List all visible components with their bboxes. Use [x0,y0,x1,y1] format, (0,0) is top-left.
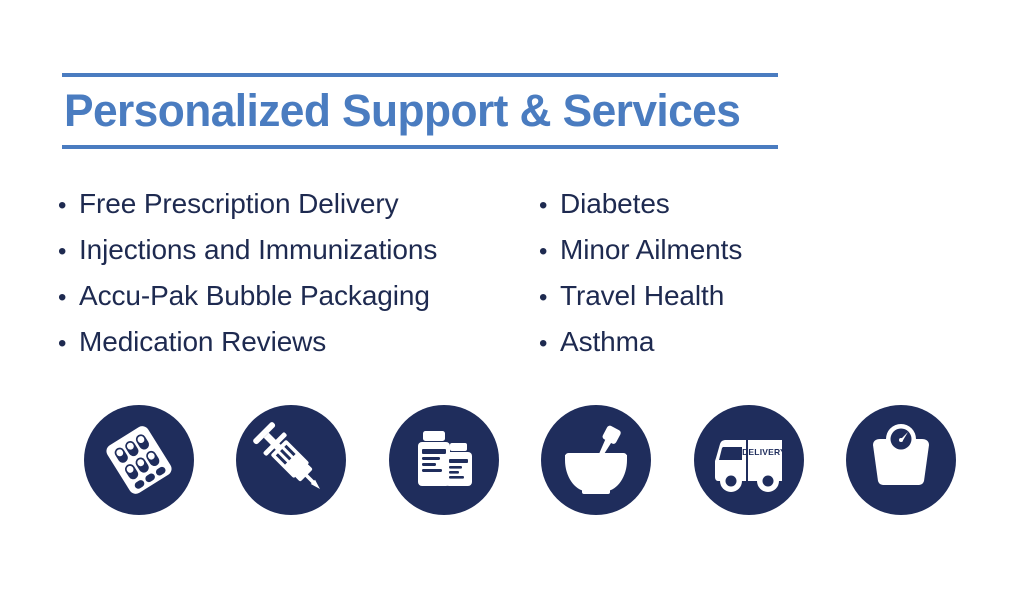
blister-pack-icon [84,405,194,515]
list-item-label: Asthma [560,319,654,365]
list-item: • Accu-Pak Bubble Packaging [58,273,437,319]
list-item: • Medication Reviews [58,319,437,365]
pill-bottles-icon [389,405,499,515]
list-item: • Diabetes [539,181,742,227]
bullet-icon: • [539,183,560,229]
bullet-icon: • [539,321,560,367]
list-item-label: Injections and Immunizations [79,227,437,273]
list-item-label: Minor Ailments [560,227,742,273]
list-item-label: Accu-Pak Bubble Packaging [79,273,430,319]
mortar-pestle-icon [541,405,651,515]
delivery-truck-icon: DELIVERY [694,405,804,515]
list-item-label: Travel Health [560,273,724,319]
list-item-label: Free Prescription Delivery [79,181,399,227]
icon-badge-pill-bottles [389,405,499,515]
list-item: • Minor Ailments [539,227,742,273]
page-title: Personalized Support & Services [62,77,767,145]
icon-badge-mortar-pestle [541,405,651,515]
icon-badge-syringe [236,405,346,515]
bullet-icon: • [58,275,79,321]
list-item-label: Medication Reviews [79,319,326,365]
weight-scale-icon [846,405,956,515]
icon-badge-blister-pack [84,405,194,515]
bullet-icon: • [539,275,560,321]
bullet-icon: • [58,183,79,229]
page-title-block: Personalized Support & Services [62,73,778,149]
list-item-label: Diabetes [560,181,670,227]
list-item: • Free Prescription Delivery [58,181,437,227]
icon-badge-weight-scale [846,405,956,515]
icon-row: DELIVERY [84,405,956,515]
services-right-column: • Diabetes • Minor Ailments • Travel Hea… [539,181,742,365]
list-item: • Travel Health [539,273,742,319]
bullet-icon: • [58,229,79,275]
bullet-icon: • [58,321,79,367]
list-item: • Injections and Immunizations [58,227,437,273]
delivery-truck-label: DELIVERY [742,447,786,457]
services-left-column: • Free Prescription Delivery • Injection… [58,181,437,365]
bullet-icon: • [539,229,560,275]
title-rule-bottom [62,145,778,149]
syringe-icon [236,405,346,515]
icon-badge-delivery-truck: DELIVERY [694,405,804,515]
list-item: • Asthma [539,319,742,365]
